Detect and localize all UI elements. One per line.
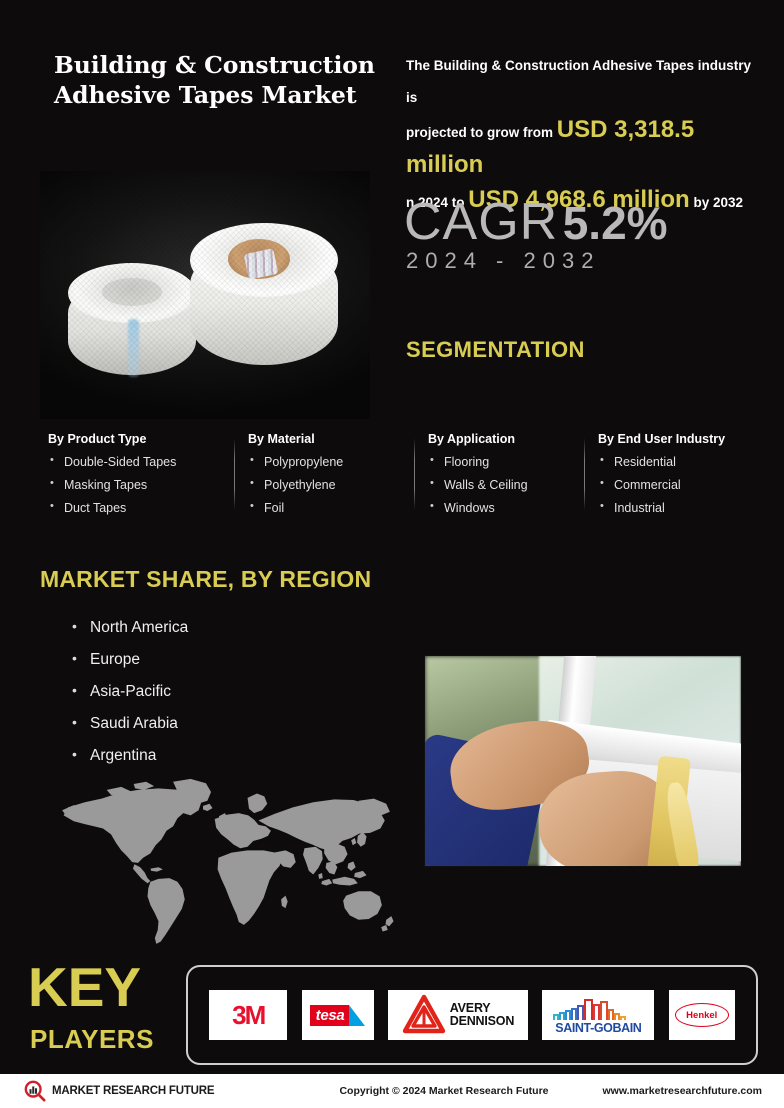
logo-tesa-mark: tesa	[310, 1005, 366, 1026]
footer-copyright: Copyright © 2024 Market Research Future	[294, 1085, 594, 1097]
tape-roll-left-core	[102, 278, 162, 306]
region-item: Saudi Arabia	[72, 715, 188, 733]
footer-brand-text: MARKET RESEARCH FUTURE	[52, 1085, 214, 1097]
segmentation-item: Masking Tapes	[48, 478, 236, 492]
cagr-year-range: 2024 - 2032	[406, 248, 600, 274]
page-title: Building & Construction Adhesive Tapes M…	[54, 50, 394, 110]
segmentation-column-material: By Material Polypropylene Polyethylene F…	[248, 432, 428, 524]
segmentation-item: Double-Sided Tapes	[48, 455, 236, 469]
footer-url[interactable]: www.marketresearchfuture.com	[594, 1085, 762, 1097]
segmentation-heading: By Material	[248, 432, 416, 446]
logo-3m[interactable]: 3M	[209, 990, 287, 1040]
segmentation-item: Polypropylene	[248, 455, 416, 469]
window-sealing-photo	[424, 655, 742, 867]
avery-triangle-icon	[402, 994, 446, 1036]
region-item: North America	[72, 619, 188, 637]
market-share-title: MARKET SHARE, BY REGION	[40, 566, 371, 593]
segmentation-grid: By Product Type Double-Sided Tapes Maski…	[48, 432, 738, 524]
segmentation-item: Residential	[598, 455, 746, 469]
segmentation-item: Industrial	[598, 501, 746, 515]
segmentation-item: Walls & Ceiling	[428, 478, 586, 492]
segmentation-column-product-type: By Product Type Double-Sided Tapes Maski…	[48, 432, 248, 524]
world-map-graphic	[30, 775, 395, 947]
adhesive-tape-rolls-photo	[40, 171, 370, 419]
segmentation-heading: By Product Type	[48, 432, 236, 446]
market-share-region-list: North America Europe Asia-Pacific Saudi …	[72, 619, 188, 779]
logo-avery-dennison[interactable]: AVERY DENNISON	[388, 990, 528, 1040]
segmentation-item: Windows	[428, 501, 586, 515]
logo-avery-text: AVERY DENNISON	[450, 1002, 514, 1028]
segmentation-column-application: By Application Flooring Walls & Ceiling …	[428, 432, 598, 524]
key-players-logo-box: 3M tesa AVERY DENNISON	[186, 965, 758, 1065]
logo-avery-line2: DENNISON	[450, 1015, 514, 1028]
tape-roll-left-stripe	[128, 319, 139, 377]
key-players-heading-top: KEY	[28, 960, 141, 1014]
logo-tesa[interactable]: tesa	[302, 990, 374, 1040]
growth-line-2-prefix: projected to grow from	[406, 125, 557, 140]
cagr-label: CAGR	[404, 193, 558, 251]
cagr-block: CAGR 5.2%	[404, 192, 668, 252]
infographic-page: Building & Construction Adhesive Tapes M…	[0, 0, 784, 1108]
market-research-future-logo-icon	[24, 1080, 46, 1102]
growth-line-1: The Building & Construction Adhesive Tap…	[406, 58, 751, 105]
segmentation-heading: By End User Industry	[598, 432, 746, 446]
segmentation-title: SEGMENTATION	[406, 337, 585, 363]
logo-saint-gobain-mark: SAINT-GOBAIN	[550, 996, 646, 1035]
logo-saint-gobain-text: SAINT-GOBAIN	[555, 1021, 641, 1035]
logo-saint-gobain[interactable]: SAINT-GOBAIN	[542, 990, 654, 1040]
region-item: Argentina	[72, 747, 188, 765]
segmentation-item: Flooring	[428, 455, 586, 469]
footer-brand: MARKET RESEARCH FUTURE	[24, 1080, 294, 1102]
key-players-heading-bottom: PLAYERS	[30, 1024, 154, 1055]
segmentation-heading: By Application	[428, 432, 586, 446]
world-map-svg	[30, 775, 395, 947]
logo-avery-mark: AVERY DENNISON	[402, 994, 514, 1036]
segmentation-item: Polyethylene	[248, 478, 416, 492]
logo-tesa-text: tesa	[310, 1005, 350, 1026]
logo-henkel-text: Henkel	[675, 1003, 729, 1027]
cagr-value: 5.2%	[563, 197, 668, 249]
segmentation-item: Commercial	[598, 478, 746, 492]
segmentation-item: Duct Tapes	[48, 501, 236, 515]
logo-tesa-triangle-icon	[349, 1005, 365, 1026]
key-players-logo-row: 3M tesa AVERY DENNISON	[188, 967, 756, 1063]
region-item: Asia-Pacific	[72, 683, 188, 701]
saint-gobain-skyline-icon	[550, 996, 646, 1022]
logo-3m-text: 3M	[232, 1000, 264, 1031]
region-item: Europe	[72, 651, 188, 669]
logo-henkel[interactable]: Henkel	[669, 990, 735, 1040]
growth-line-3-suffix: by 2032	[690, 195, 743, 210]
segmentation-column-end-user-industry: By End User Industry Residential Commerc…	[598, 432, 758, 524]
segmentation-item: Foil	[248, 501, 416, 515]
page-footer: MARKET RESEARCH FUTURE Copyright © 2024 …	[0, 1074, 784, 1108]
